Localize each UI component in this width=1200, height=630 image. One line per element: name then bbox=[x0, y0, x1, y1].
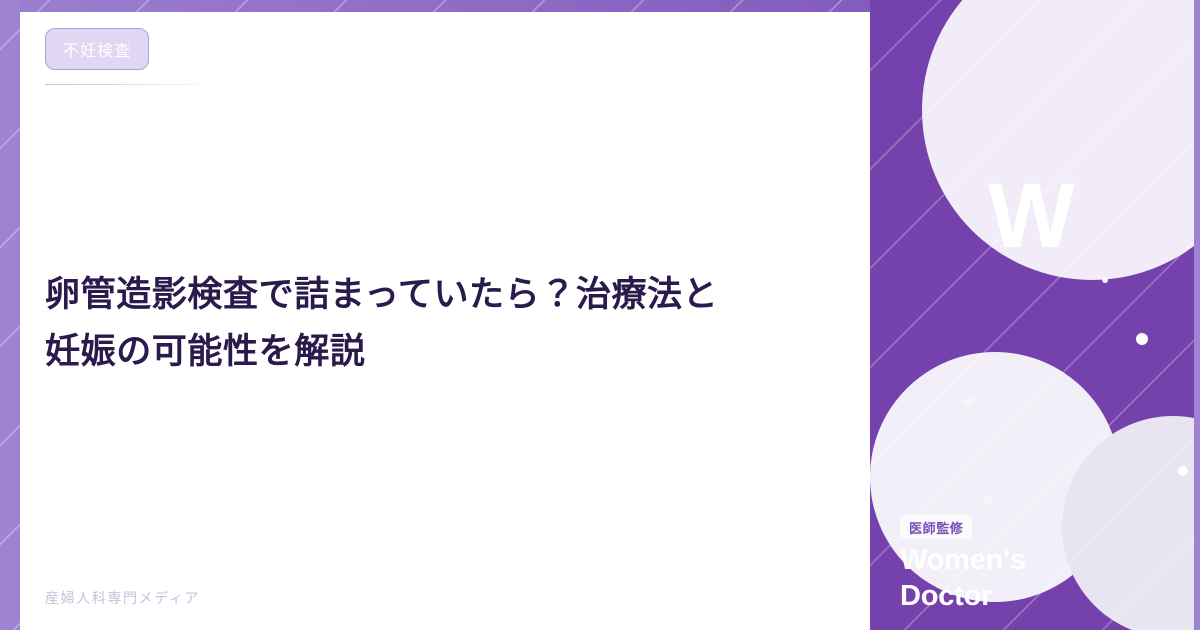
decorative-dot-small-upper bbox=[1102, 277, 1108, 283]
brand-panel: W 医師監修 Women's Doctor bbox=[870, 0, 1200, 630]
tag-divider-rule bbox=[45, 84, 220, 85]
brand-watermark-letter: W bbox=[988, 170, 1073, 262]
site-tagline: 産婦人科専門メディア bbox=[45, 588, 200, 608]
share-card-canvas: 不妊検査 卵管造影検査で詰まっていたら？治療法と 妊娠の可能性を解説 産婦人科専… bbox=[0, 0, 1200, 630]
doctor-supervised-badge: 医師監修 bbox=[900, 515, 972, 539]
category-tag-label: 不妊検査 bbox=[63, 37, 131, 61]
brand-name-line-1: Women's bbox=[900, 543, 1026, 578]
brand-name: Women's Doctor bbox=[900, 543, 1026, 614]
brand-lockup: 医師監修 Women's Doctor bbox=[900, 515, 1026, 614]
frame-left-bar bbox=[0, 0, 20, 630]
article-card: 不妊検査 卵管造影検査で詰まっていたら？治療法と 妊娠の可能性を解説 産婦人科専… bbox=[20, 12, 870, 630]
decorative-dot-left-lower bbox=[984, 496, 993, 505]
decorative-dot-left-upper bbox=[964, 397, 973, 406]
brand-name-line-2: Doctor bbox=[900, 579, 1026, 614]
decorative-dot-medium-upper bbox=[1136, 333, 1148, 345]
headline-line-1: 卵管造影検査で詰まっていたら？治療法と bbox=[45, 267, 815, 324]
article-headline: 卵管造影検査で詰まっていたら？治療法と 妊娠の可能性を解説 bbox=[45, 267, 815, 380]
category-tag[interactable]: 不妊検査 bbox=[45, 28, 149, 70]
headline-line-2: 妊娠の可能性を解説 bbox=[45, 324, 815, 381]
decorative-dot-right-lower bbox=[1178, 466, 1188, 476]
frame-right-bar bbox=[1194, 0, 1200, 630]
